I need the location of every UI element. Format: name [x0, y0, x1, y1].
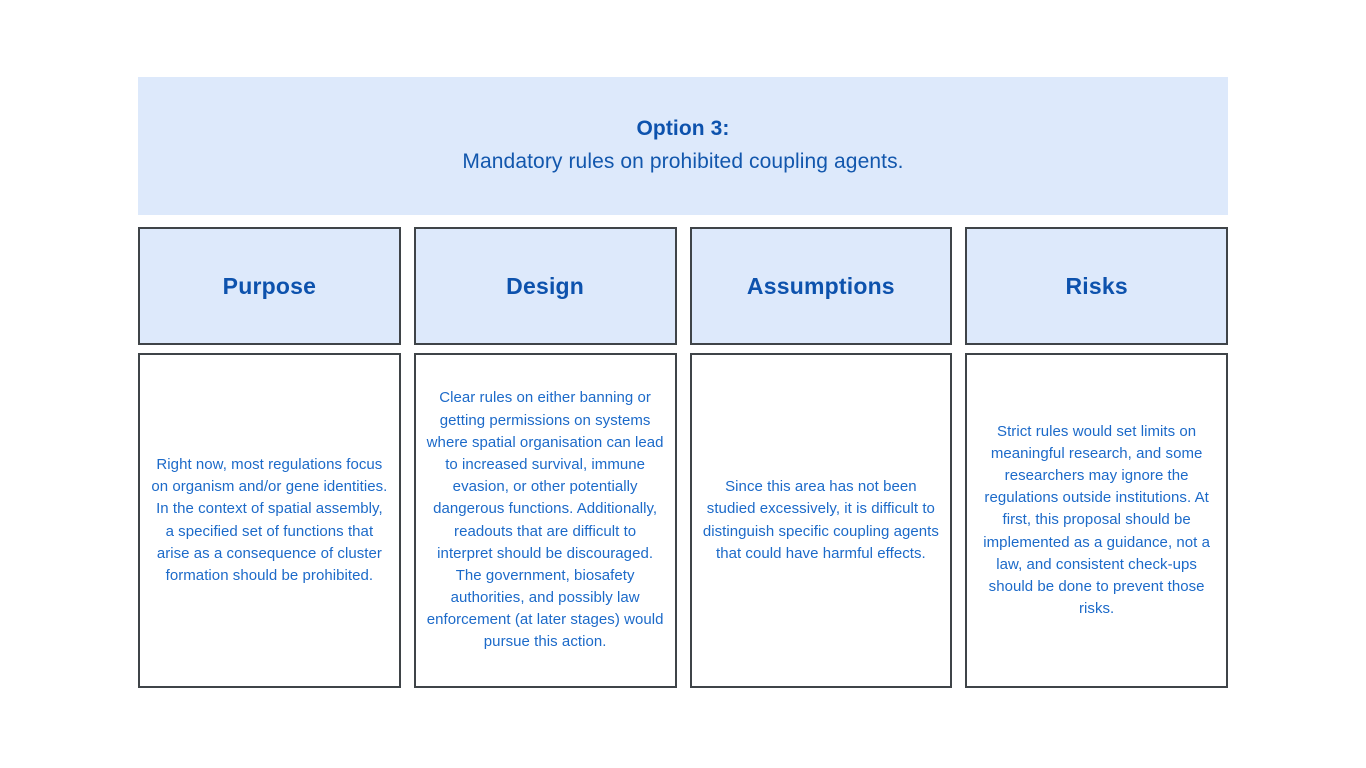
header-label-purpose: Purpose — [223, 273, 316, 300]
header-cell-assumptions: Assumptions — [690, 227, 953, 345]
body-text-assumptions: Since this area has not been studied exc… — [702, 476, 941, 565]
header-label-assumptions: Assumptions — [747, 273, 895, 300]
header-label-risks: Risks — [1065, 273, 1127, 300]
body-cell-design: Clear rules on either banning or getting… — [414, 353, 677, 688]
body-cell-risks: Strict rules would set limits on meaning… — [965, 353, 1228, 688]
options-table: Purpose Design Assumptions Risks Right n… — [138, 227, 1228, 688]
body-text-purpose: Right now, most regulations focus on org… — [150, 454, 389, 587]
option-subtitle: Mandatory rules on prohibited coupling a… — [462, 146, 903, 179]
header-cell-risks: Risks — [965, 227, 1228, 345]
header-cell-purpose: Purpose — [138, 227, 401, 345]
body-cell-assumptions: Since this area has not been studied exc… — [690, 353, 953, 688]
title-banner: Option 3: Mandatory rules on prohibited … — [138, 77, 1228, 215]
body-text-risks: Strict rules would set limits on meaning… — [977, 421, 1216, 621]
header-label-design: Design — [506, 273, 584, 300]
option-title: Option 3: — [636, 113, 729, 146]
slide-canvas: Option 3: Mandatory rules on prohibited … — [0, 0, 1366, 768]
body-text-design: Clear rules on either banning or getting… — [426, 387, 665, 653]
body-cell-purpose: Right now, most regulations focus on org… — [138, 353, 401, 688]
header-cell-design: Design — [414, 227, 677, 345]
